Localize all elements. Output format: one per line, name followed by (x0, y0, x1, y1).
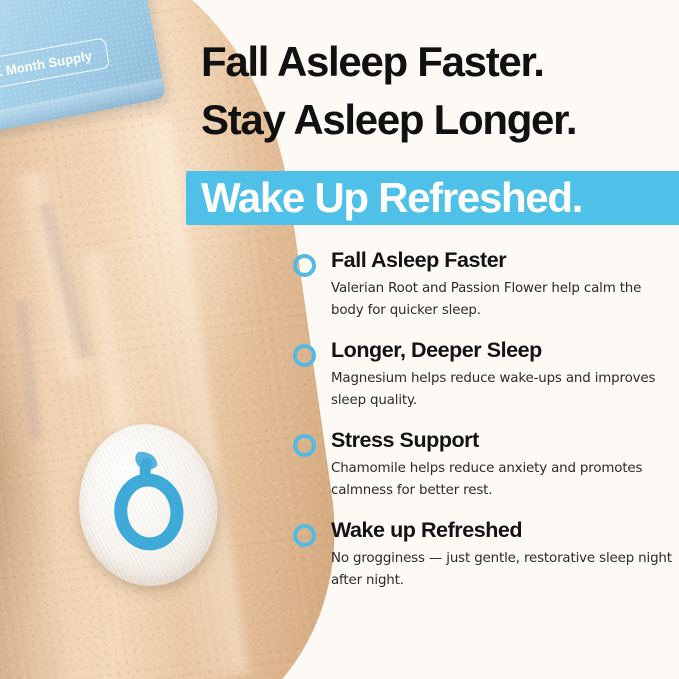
ring-icon (293, 344, 316, 367)
benefit-title: Longer, Deeper Sleep (331, 338, 542, 363)
headline-line-3: Wake Up Refreshed. (201, 177, 582, 219)
benefit-body: No grogginess — just gentle, restorative… (331, 548, 675, 591)
benefits-list: Fall Asleep Faster Valerian Root and Pas… (293, 251, 679, 611)
benefit-body: Chamomile helps reduce anxiety and promo… (331, 458, 675, 501)
benefit-item: Fall Asleep Faster Valerian Root and Pas… (293, 251, 679, 341)
headline-line-2: Stay Asleep Longer. (201, 99, 576, 141)
ring-icon (293, 434, 316, 457)
benefit-title: Wake up Refreshed (331, 518, 522, 543)
benefit-item: Stress Support Chamomile helps reduce an… (293, 431, 679, 521)
benefit-item: Wake up Refreshed No grogginess — just g… (293, 521, 679, 611)
headline-line-1: Fall Asleep Faster. (201, 41, 544, 83)
benefit-title: Fall Asleep Faster (331, 248, 506, 273)
benefit-title: Stress Support (331, 428, 479, 453)
benefit-body: Magnesium helps reduce wake-ups and impr… (331, 368, 675, 411)
benefit-body: Valerian Root and Passion Flower help ca… (331, 278, 675, 321)
product-marketing-image: Relax 1 Month Supply Fall Asleep Faster.… (0, 0, 679, 679)
marketing-copy: Fall Asleep Faster. Stay Asleep Longer. … (0, 0, 679, 679)
benefit-item: Longer, Deeper Sleep Magnesium helps red… (293, 341, 679, 431)
ring-icon (293, 254, 316, 277)
ring-icon (293, 524, 316, 547)
